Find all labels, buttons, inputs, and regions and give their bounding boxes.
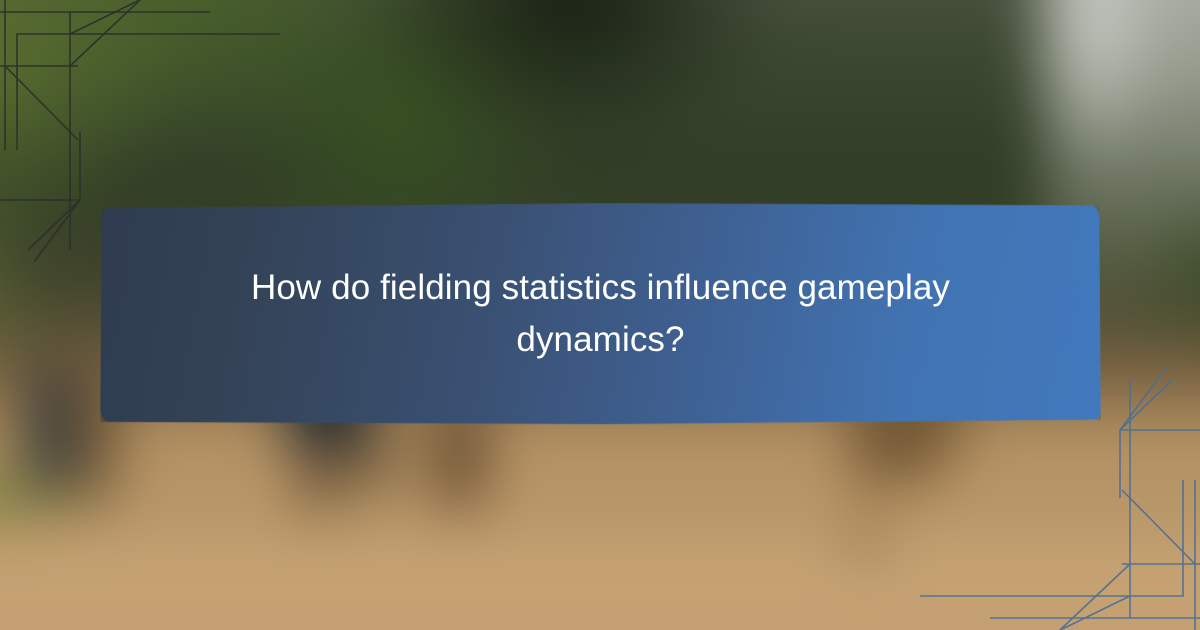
- background-figure-center-leg-1: [307, 433, 334, 511]
- banner-canvas: How do fielding statistics influence gam…: [0, 0, 1200, 630]
- headline-card-text-area: How do fielding statistics influence gam…: [101, 203, 1100, 424]
- headline-card: How do fielding statistics influence gam…: [101, 203, 1100, 424]
- background-canopy: [304, 0, 836, 197]
- background-figure-center-leg-2: [363, 421, 388, 494]
- background-figure-left: [29, 365, 67, 494]
- background-ball: [852, 528, 881, 557]
- page-title: How do fielding statistics influence gam…: [206, 262, 996, 364]
